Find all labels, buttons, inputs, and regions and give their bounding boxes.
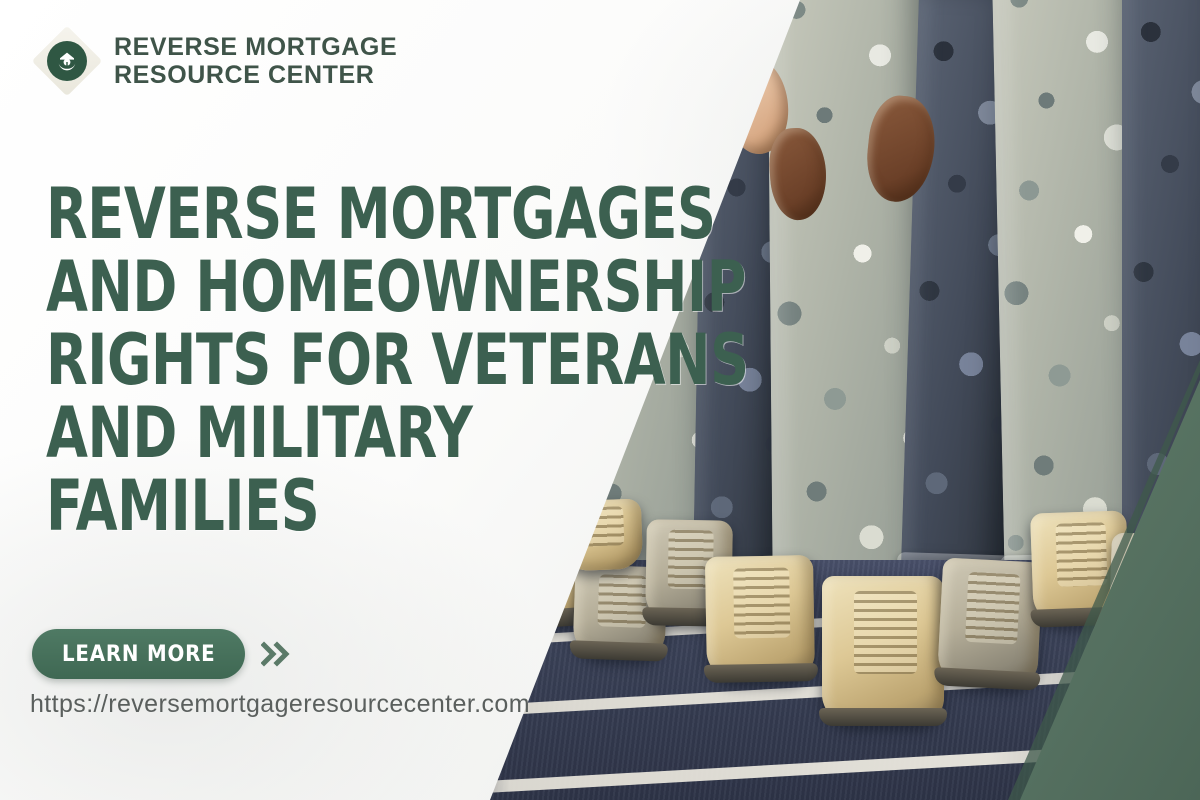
boot-laces [1055, 522, 1107, 586]
brand-name: Reverse Mortgage Resource Center [114, 33, 397, 89]
boot-laces [733, 568, 790, 638]
combat-boot [705, 555, 815, 681]
promo-banner: Reverse Mortgage Resource Center Reverse… [0, 0, 1200, 800]
headline-line-1: Reverse Mortgages [46, 178, 596, 251]
cta-row: Learn More [32, 629, 295, 679]
boot-laces [965, 571, 1021, 644]
page-title: Reverse Mortgages And Homeownership Righ… [46, 178, 596, 543]
house-tree-emblem-icon [47, 41, 87, 81]
headline-line-5: Families [46, 470, 596, 543]
logo-mark [34, 28, 100, 94]
combat-boot [822, 576, 944, 724]
headline-line-2: And Homeownership [46, 251, 596, 324]
boot-laces [854, 591, 917, 674]
site-url[interactable]: https://reversemortgageresourcecenter.co… [30, 690, 530, 719]
brand-name-line-2: Resource Center [114, 61, 397, 89]
headline-line-4: And Military [46, 397, 596, 470]
brand-name-line-1: Reverse Mortgage [114, 33, 397, 61]
boot-laces [597, 574, 647, 627]
boot-sole [819, 708, 947, 726]
headline-line-3: Rights For Veterans [46, 324, 596, 397]
boot-sole [569, 640, 668, 661]
brand-logo[interactable]: Reverse Mortgage Resource Center [34, 28, 397, 94]
combat-boot [937, 557, 1043, 688]
boot-sole [704, 663, 818, 683]
learn-more-button[interactable]: Learn More [32, 629, 245, 679]
double-chevron-right-icon[interactable] [261, 641, 295, 667]
